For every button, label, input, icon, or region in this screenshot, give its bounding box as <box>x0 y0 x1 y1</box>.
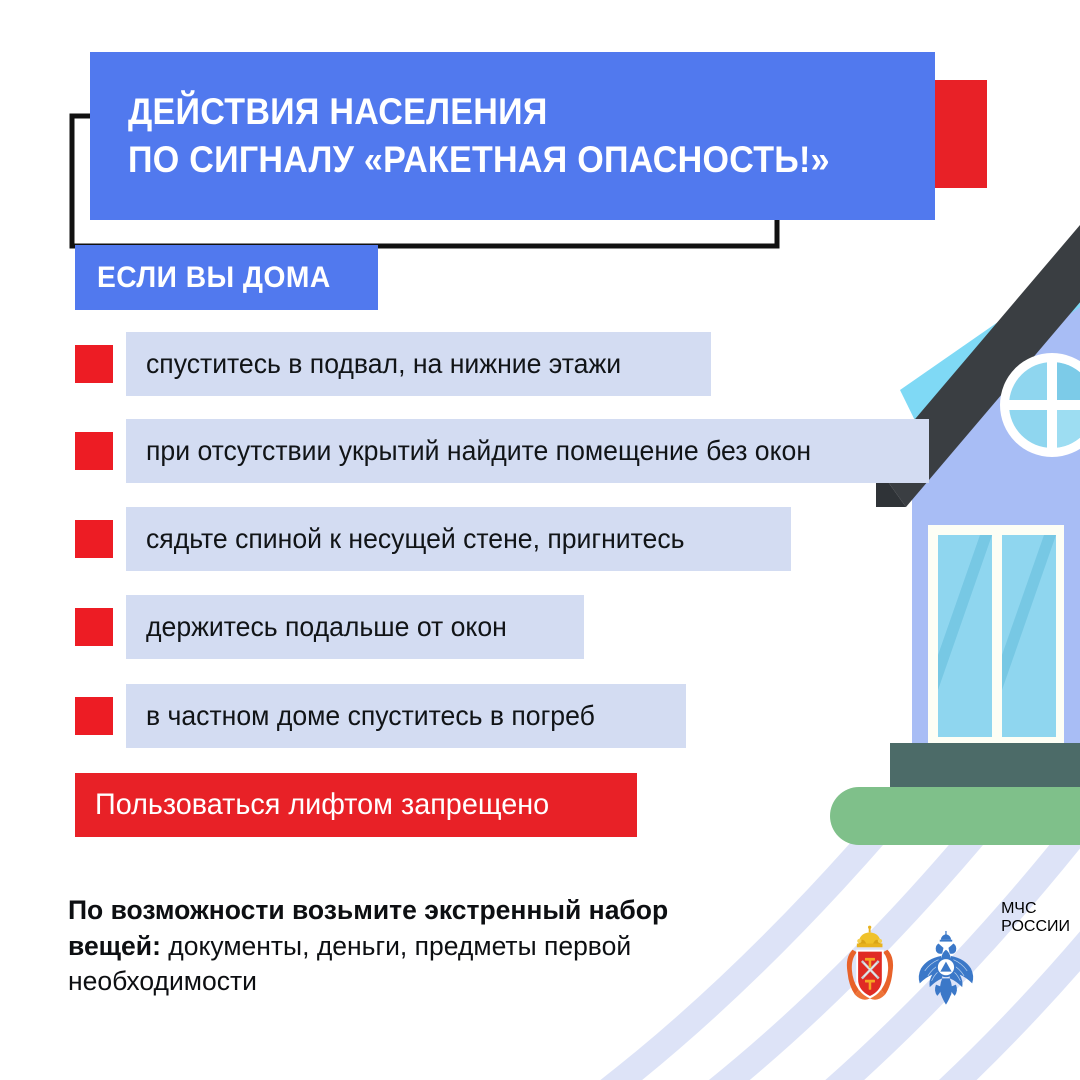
list-item-pill: в частном доме спуститесь в погреб <box>126 684 686 748</box>
list-item-label: держитесь подальше от окон <box>146 611 507 643</box>
list-item-pill: держитесь подальше от окон <box>126 595 584 659</box>
warning-banner: Пользоваться лифтом запрещено <box>75 773 637 837</box>
list-item-label: спуститесь в подвал, на нижние этажи <box>146 348 621 380</box>
bullet-square-icon <box>75 697 113 735</box>
bullet-square-icon <box>75 608 113 646</box>
section-badge-label: ЕСЛИ ВЫ ДОМА <box>97 261 331 295</box>
list-item-label: в частном доме спуститесь в погреб <box>146 700 595 732</box>
list-item: держитесь подальше от окон <box>75 595 584 659</box>
house-illustration <box>780 215 1080 855</box>
emergency-kit-note: По возможности возьмите экстренный набор… <box>68 893 748 1000</box>
logo-group: МЧС РОССИИ <box>840 900 1070 1060</box>
infographic-poster: ДЕЙСТВИЯ НАСЕЛЕНИЯ ПО СИГНАЛУ «РАКЕТНАЯ … <box>0 0 1080 1080</box>
list-item-label: сядьте спиной к несущей стене, пригнитес… <box>146 523 685 555</box>
section-badge-if-you-are-home: ЕСЛИ ВЫ ДОМА <box>75 245 378 310</box>
tula-oblast-coat-of-arms-icon <box>840 900 901 1032</box>
warning-banner-label: Пользоваться лифтом запрещено <box>95 788 549 822</box>
title-line-2: ПО СИГНАЛУ «РАКЕТНАЯ ОПАСНОСТЬ!» <box>128 136 870 184</box>
bullet-square-icon <box>75 345 113 383</box>
mchs-wordmark: МЧС РОССИИ <box>1001 900 1070 936</box>
page-title: ДЕЙСТВИЯ НАСЕЛЕНИЯ ПО СИГНАЛУ «РАКЕТНАЯ … <box>90 52 935 220</box>
list-item: сядьте спиной к несущей стене, пригнитес… <box>75 507 791 571</box>
list-item: спуститесь в подвал, на нижние этажи <box>75 332 711 396</box>
list-item-pill: сядьте спиной к несущей стене, пригнитес… <box>126 507 791 571</box>
list-item: в частном доме спуститесь в погреб <box>75 684 686 748</box>
rectangular-window <box>928 525 1064 747</box>
mchs-rossii-emblem-icon <box>911 900 981 1045</box>
list-item-pill: спуститесь в подвал, на нижние этажи <box>126 332 711 396</box>
bullet-square-icon <box>75 520 113 558</box>
title-line-1: ДЕЙСТВИЯ НАСЕЛЕНИЯ <box>128 88 870 136</box>
red-accent-block <box>935 80 987 188</box>
list-item-pill: при отсутствии укрытий найдите помещение… <box>126 419 929 483</box>
list-item-label: при отсутствии укрытий найдите помещение… <box>146 435 811 467</box>
bullet-square-icon <box>75 432 113 470</box>
list-item: при отсутствии укрытий найдите помещение… <box>75 419 929 483</box>
